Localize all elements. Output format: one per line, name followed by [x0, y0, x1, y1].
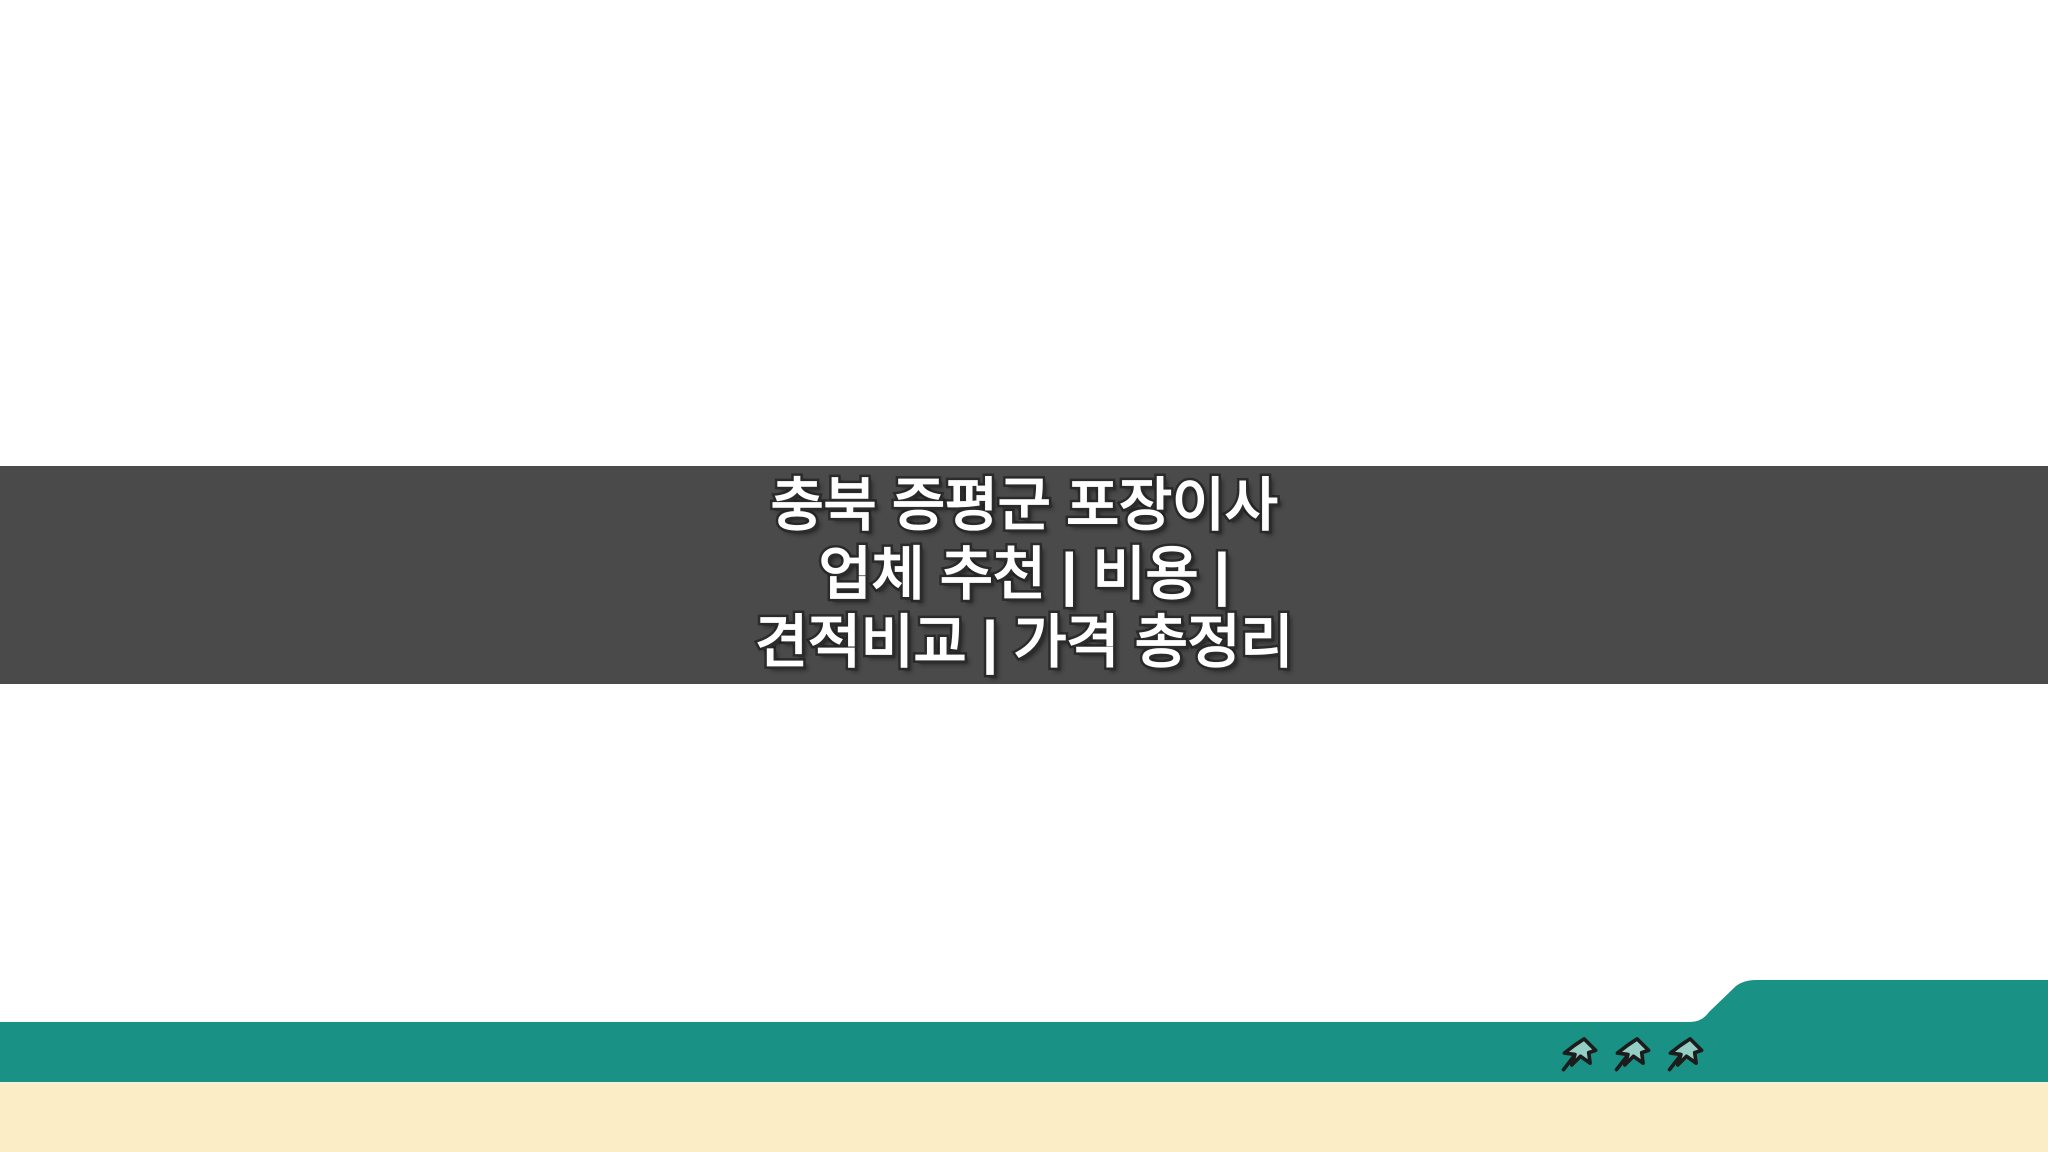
title-line-3: 견적비교 | 가격 총정리: [755, 609, 1293, 677]
title-line-1: 충북 증평군 포장이사: [771, 472, 1278, 540]
pushpin-icon-3: [1664, 1032, 1708, 1076]
cream-footer-band: [0, 1084, 2048, 1152]
teal-ribbon-shape: [0, 980, 2048, 1082]
title-line-2: 업체 추천 | 비용 |: [818, 541, 1229, 609]
pushpin-row: [1558, 1030, 1718, 1078]
top-blank-area: [0, 0, 2048, 466]
pushpin-icon-2: [1611, 1032, 1655, 1076]
pushpin-icon-1: [1558, 1032, 1602, 1076]
thumbnail-canvas: 충북 증평군 포장이사 업체 추천 | 비용 | 견적비교 | 가격 총정리: [0, 0, 2048, 1152]
teal-ribbon: [0, 960, 2048, 1084]
title-band: 충북 증평군 포장이사 업체 추천 | 비용 | 견적비교 | 가격 총정리: [0, 466, 2048, 684]
